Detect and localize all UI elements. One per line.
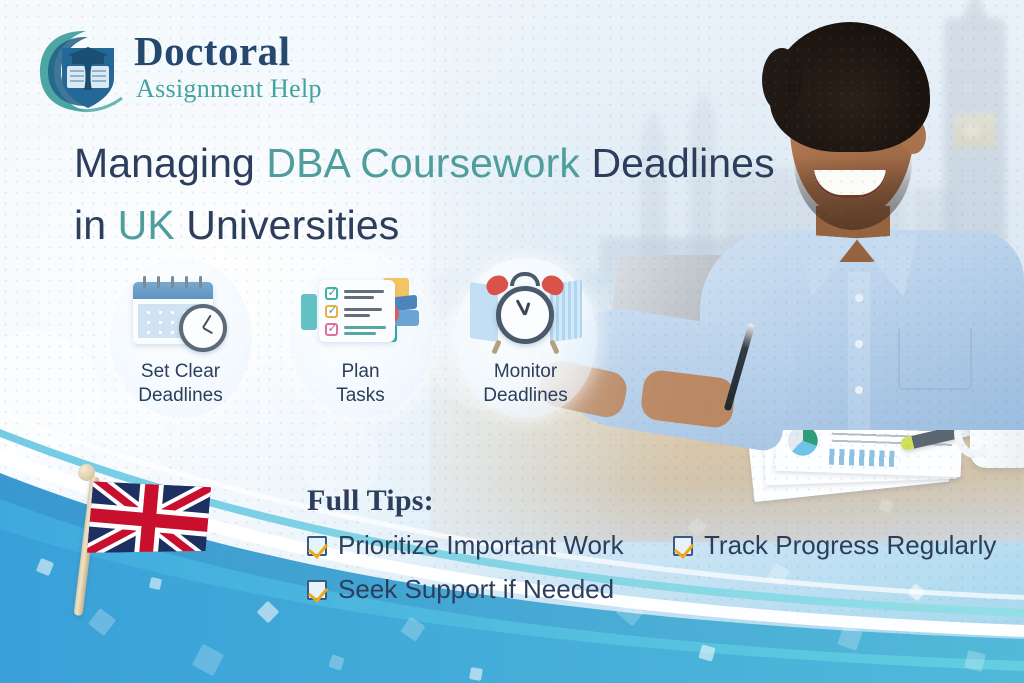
title-text-4: Universities bbox=[175, 202, 400, 248]
title-text-1: Managing bbox=[74, 140, 266, 186]
alarm-clock-icon bbox=[466, 272, 586, 356]
checklist-tasks-icon bbox=[301, 272, 421, 356]
page-title-line-2: in UK Universities bbox=[74, 194, 834, 256]
feature-label: Set Clear Deadlines bbox=[103, 360, 258, 408]
feature-label-line2: Deadlines bbox=[138, 385, 223, 406]
checkbox-checked-icon[interactable] bbox=[673, 536, 693, 556]
graduation-shield-book-icon bbox=[34, 26, 126, 114]
checkbox-checked-icon[interactable] bbox=[307, 580, 327, 600]
particle-square bbox=[469, 667, 483, 681]
uk-union-jack-flag-icon bbox=[68, 462, 248, 622]
brand-title: Doctoral bbox=[134, 30, 322, 73]
feature-label-line2: Deadlines bbox=[483, 385, 568, 406]
flag-cloth bbox=[87, 477, 211, 563]
tips-section: Full Tips: Prioritize Important Work Tra… bbox=[307, 484, 997, 530]
poster-canvas: Doctoral Assignment Help Managing DBA Co… bbox=[0, 0, 1024, 683]
checkbox-checked-icon[interactable] bbox=[307, 536, 327, 556]
tip-item[interactable]: Seek Support if Needed bbox=[307, 574, 614, 605]
brand-logo[interactable]: Doctoral Assignment Help bbox=[34, 24, 364, 118]
feature-label-line1: Plan bbox=[341, 361, 379, 382]
page-title: Managing DBA Coursework Deadlines in UK … bbox=[74, 132, 834, 257]
tip-item[interactable]: Track Progress Regularly bbox=[673, 530, 996, 561]
tip-item[interactable]: Prioritize Important Work bbox=[307, 530, 624, 561]
brand-logo-text: Doctoral Assignment Help bbox=[134, 30, 322, 104]
tip-label: Seek Support if Needed bbox=[338, 574, 614, 605]
feature-set-clear-deadlines[interactable]: Set Clear Deadlines bbox=[103, 258, 258, 438]
brand-subtitle: Assignment Help bbox=[136, 74, 322, 104]
feature-label-line1: Monitor bbox=[494, 361, 557, 382]
tips-title: Full Tips: bbox=[307, 484, 997, 518]
feature-monitor-deadlines[interactable]: Monitor Deadlines bbox=[448, 258, 603, 438]
tip-label: Prioritize Important Work bbox=[338, 530, 624, 561]
feature-label: Monitor Deadlines bbox=[448, 360, 603, 408]
title-text-2: Deadlines bbox=[580, 140, 775, 186]
feature-label: Plan Tasks bbox=[283, 360, 438, 408]
feature-label-line1: Set Clear bbox=[141, 361, 220, 382]
title-highlight-2: UK bbox=[118, 202, 175, 248]
page-title-line-1: Managing DBA Coursework Deadlines bbox=[74, 132, 834, 194]
feature-plan-tasks[interactable]: Plan Tasks bbox=[283, 258, 438, 438]
tip-label: Track Progress Regularly bbox=[704, 530, 996, 561]
flag-pole-knob bbox=[78, 464, 95, 481]
feature-label-line2: Tasks bbox=[336, 385, 385, 406]
title-text-3: in bbox=[74, 202, 118, 248]
title-highlight-1: DBA Coursework bbox=[266, 140, 580, 186]
feature-list: Set Clear Deadlines Plan Tasks bbox=[103, 258, 613, 438]
calendar-clock-icon bbox=[121, 272, 241, 356]
